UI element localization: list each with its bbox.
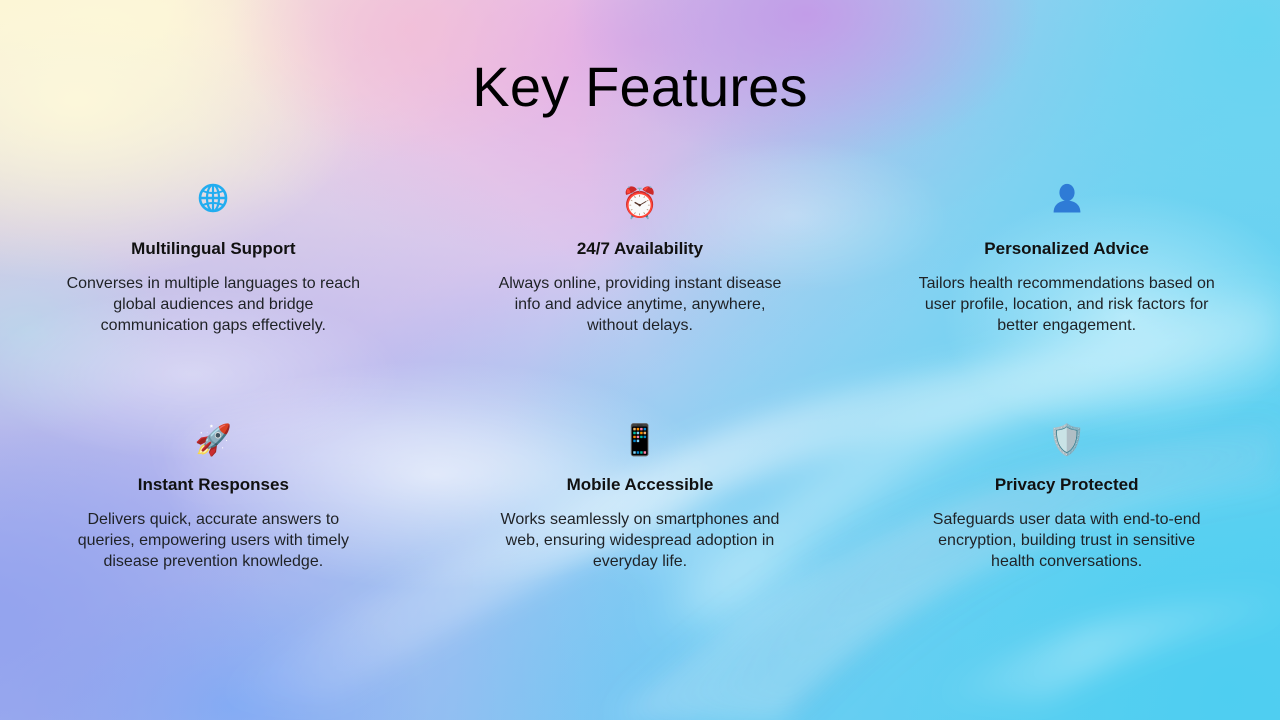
feature-card-mobile-accessible[interactable]: 📱 Mobile Accessible Works seamlessly on … [427,420,854,572]
feature-title: Mobile Accessible [567,474,714,496]
feature-card-multilingual-support[interactable]: Multilingual Support Converses in multip… [0,182,427,420]
person-bust-icon [1052,182,1082,226]
slide-canvas: Key Features Multilingual Support Conver… [0,0,1280,720]
feature-title: Personalized Advice [984,238,1149,260]
feature-description: Tailors health recommendations based on … [917,273,1217,336]
feature-description: Converses in multiple languages to reach… [63,273,363,336]
feature-card-privacy-protected[interactable]: 🛡️ Privacy Protected Safeguards user dat… [853,420,1280,572]
feature-description: Delivers quick, accurate answers to quer… [63,509,363,572]
rocket-icon: 🚀 [195,420,232,462]
mobile-phone-icon: 📱 [621,420,658,462]
feature-card-personalized-advice[interactable]: Personalized Advice Tailors health recom… [853,182,1280,420]
globe-icon [197,182,229,226]
feature-description: Always online, providing instant disease… [490,273,790,336]
alarm-clock-icon: ⏰ [621,182,658,226]
feature-title: 24/7 Availability [577,238,703,260]
feature-title: Privacy Protected [995,474,1139,496]
feature-card-availability[interactable]: ⏰ 24/7 Availability Always online, provi… [427,182,854,420]
shield-icon: 🛡️ [1048,420,1085,462]
page-title: Key Features [0,50,1280,124]
feature-card-instant-responses[interactable]: 🚀 Instant Responses Delivers quick, accu… [0,420,427,572]
feature-title: Instant Responses [138,474,289,496]
feature-grid: Multilingual Support Converses in multip… [0,182,1280,572]
feature-description: Safeguards user data with end-to-end enc… [917,509,1217,572]
feature-description: Works seamlessly on smartphones and web,… [490,509,790,572]
feature-title: Multilingual Support [131,238,295,260]
